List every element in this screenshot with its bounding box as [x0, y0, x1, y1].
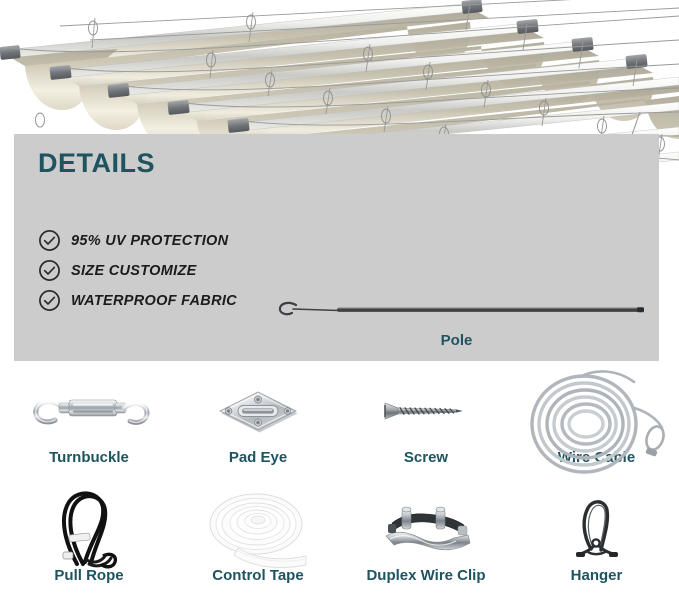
accessory-label: Screw — [404, 450, 448, 465]
accessory-item-wire-cable: Wire Cable — [514, 372, 679, 490]
accessory-item-turnbuckle: Turnbuckle — [0, 372, 178, 490]
accessory-row: Turnbuckle — [0, 372, 679, 490]
accessory-item-duplex-wire-clip: Duplex Wire Clip — [338, 490, 514, 608]
feature-item-uv-protection: 95% UV PROTECTION — [38, 229, 228, 252]
accessory-item-control-tape: Control Tape — [178, 490, 338, 608]
accessory-row: Pull Rope — [0, 490, 679, 608]
details-title: DETAILS — [38, 148, 155, 179]
feature-label: 95% UV PROTECTION — [71, 233, 228, 249]
accessory-label: Hanger — [571, 568, 623, 583]
check-circle-icon — [38, 229, 61, 252]
accessory-label: Turnbuckle — [49, 450, 129, 465]
control-tape-icon — [202, 488, 314, 570]
accessory-label: Duplex Wire Clip — [366, 568, 485, 583]
pole-icon — [269, 289, 644, 329]
accessory-item-hanger: Hanger — [514, 490, 679, 608]
accessory-item-pull-rope: Pull Rope — [0, 490, 178, 608]
pad-eye-icon — [216, 386, 300, 436]
wire-cable-icon — [522, 368, 672, 480]
pull-rope-icon — [43, 486, 135, 572]
feature-label: WATERPROOF FABRIC — [71, 293, 237, 309]
accessories-grid: Turnbuckle — [0, 372, 679, 611]
pole-label: Pole — [269, 332, 644, 349]
accessory-label: Pad Eye — [229, 450, 287, 465]
details-panel: DETAILS 95% UV PROTECTION SIZE CUSTOMIZE… — [14, 134, 659, 361]
screw-icon — [378, 394, 474, 428]
turnbuckle-icon — [28, 387, 150, 435]
pole-figure: Pole — [269, 289, 644, 359]
accessory-label: Control Tape — [212, 568, 303, 583]
accessory-item-pad-eye: Pad Eye — [178, 372, 338, 490]
check-circle-icon — [38, 259, 61, 282]
duplex-wire-clip-icon — [374, 503, 478, 555]
hanger-icon — [569, 497, 625, 561]
feature-item-waterproof-fabric: WATERPROOF FABRIC — [38, 289, 237, 312]
feature-label: SIZE CUSTOMIZE — [71, 263, 197, 279]
check-circle-icon — [38, 289, 61, 312]
accessory-item-screw: Screw — [338, 372, 514, 490]
feature-item-size-customize: SIZE CUSTOMIZE — [38, 259, 197, 282]
